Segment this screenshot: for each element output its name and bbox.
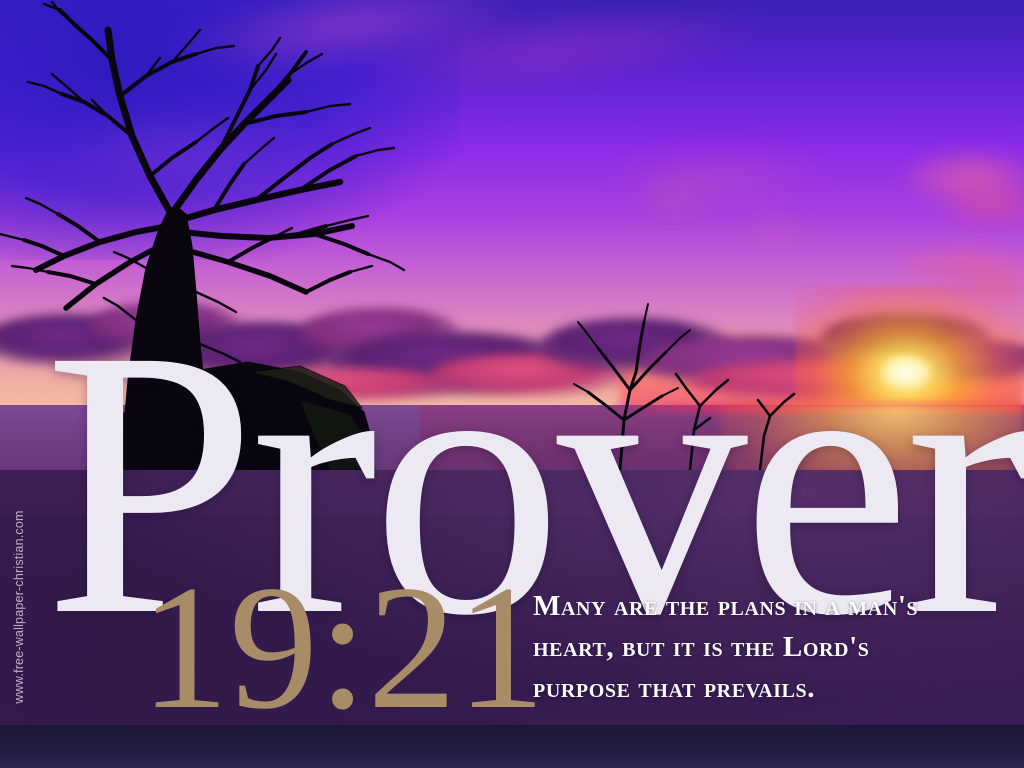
verse-reference: 19:21 [140, 558, 545, 736]
verse-text-block: Many are the plans in a man's heart, but… [533, 586, 953, 709]
verse-line: purpose that prevails. [533, 668, 953, 709]
cloud-wisp [630, 188, 720, 208]
verse-line: heart, but it is the Lord's [533, 627, 953, 668]
cloud-wisp [40, 110, 340, 200]
wallpaper-canvas: Proverbs 19:21 Many are the plans in a m… [0, 0, 1024, 768]
cloud-wisp [735, 222, 815, 240]
watermark-url: www.free-wallpaper-christian.com [12, 507, 26, 707]
verse-line: Many are the plans in a man's [533, 586, 953, 627]
